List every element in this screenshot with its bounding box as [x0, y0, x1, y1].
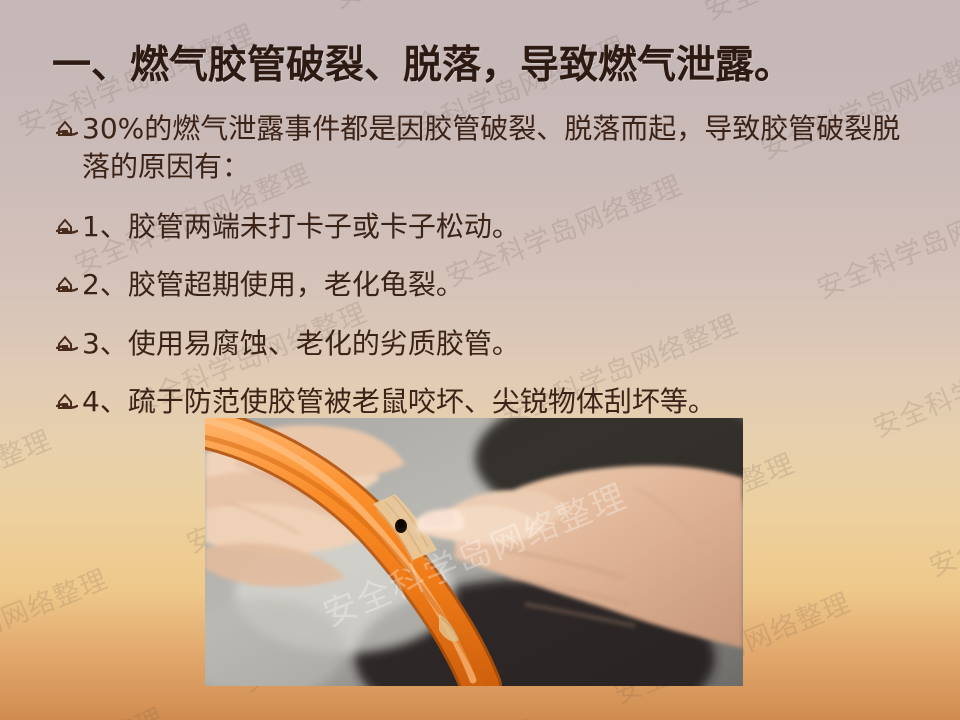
list-item-text: 2、胶管超期使用，老化龟裂。 [82, 266, 926, 303]
hose-bullet-icon [56, 273, 78, 303]
content-list: 30%的燃气泄露事件都是因胶管破裂、脱落而起，导致胶管破裂脱落的原因有： 1、胶… [56, 110, 926, 441]
damaged-gas-hose-photo: 安全科学岛网络整理 [205, 418, 743, 686]
watermark-text: 安全科学岛网络整理 [664, 687, 960, 720]
list-item: 3、使用易腐蚀、老化的劣质胶管。 [56, 325, 926, 362]
list-item-text: 30%的燃气泄露事件都是因胶管破裂、脱落而起，导致胶管破裂脱落的原因有： [82, 110, 926, 186]
hose-bullet-icon [56, 117, 78, 147]
list-item: 30%的燃气泄露事件都是因胶管破裂、脱落而起，导致胶管破裂脱落的原因有： [56, 110, 926, 186]
hose-bullet-icon [56, 332, 78, 362]
list-item-text: 1、胶管两端未打卡子或卡子松动。 [82, 208, 926, 245]
list-item: 1、胶管两端未打卡子或卡子松动。 [56, 208, 926, 245]
slide: 安全科学岛网络整理 安全科学岛网络整理 安全科学岛网络整理 安全科学岛网络整理 … [0, 0, 960, 720]
hose-bullet-icon [56, 390, 78, 420]
watermark-text: 安全科学岛网络整理 [0, 0, 11, 235]
hose-bullet-icon [56, 215, 78, 245]
list-item: 2、胶管超期使用，老化龟裂。 [56, 266, 926, 303]
slide-title: 一、燃气胶管破裂、脱落，导致燃气泄露。 [52, 34, 793, 90]
watermark-text: 安全科学岛网络整理 [0, 524, 236, 720]
list-item: 4、疏于防范使胶管被老鼠咬坏、尖锐物体刮坏等。 [56, 383, 926, 420]
list-item-text: 3、使用易腐蚀、老化的劣质胶管。 [82, 325, 926, 362]
hose-photo-illustration [205, 418, 743, 686]
list-item-text: 4、疏于防范使胶管被老鼠咬坏、尖锐物体刮坏等。 [82, 383, 926, 420]
watermark-text: 安全科学岛网络整理 [923, 421, 960, 687]
